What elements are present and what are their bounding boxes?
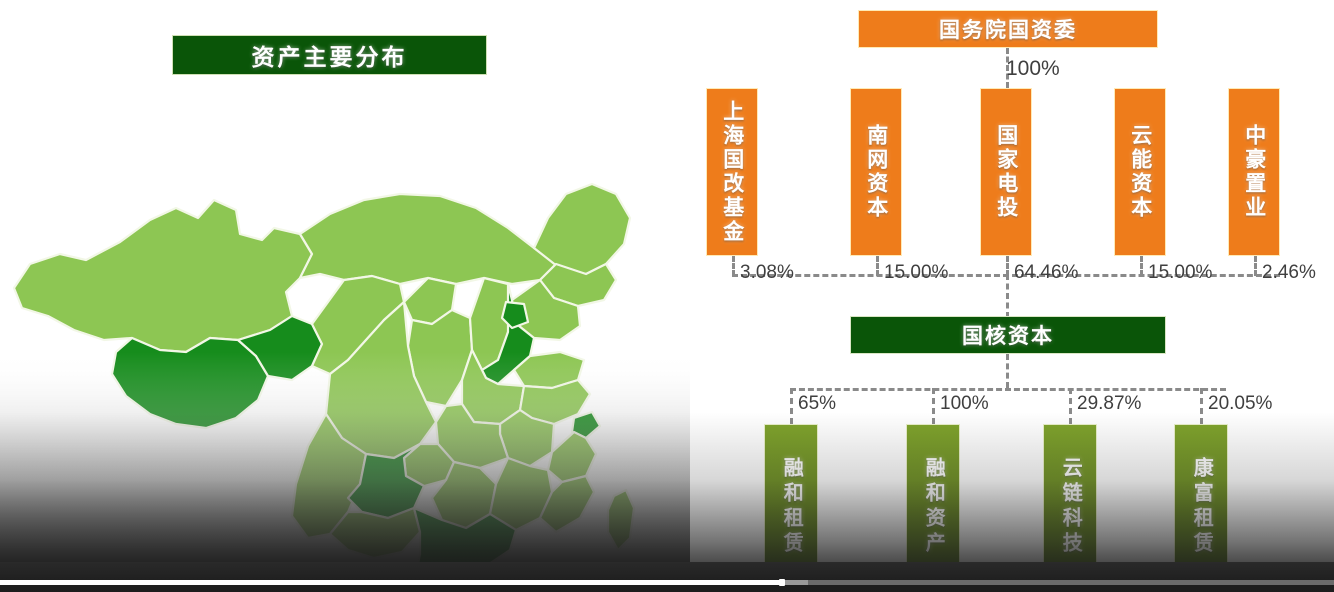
connector-tier2-to-mid [1006,274,1009,318]
org-node-state-power-investment[interactable]: 国家电投 [980,88,1032,256]
connector-tier2-4 [1254,256,1257,276]
section-title-banner: 资产主要分布 [172,35,487,75]
video-progress-bar[interactable] [0,580,1334,585]
org-node-label: 融和租赁 [781,457,801,557]
org-node-guohe-capital[interactable]: 国核资本 [850,316,1166,354]
video-control-bar[interactable] [0,562,1334,592]
connector-tier4-bus [790,388,1226,391]
connector-tier4-3 [1200,388,1203,424]
org-node-mid-label: 国核资本 [962,320,1054,350]
map-bottom-fade [0,88,690,568]
org-node-yunneng-capital[interactable]: 云能资本 [1114,88,1166,256]
org-pct-tier2-1: 15.00% [884,262,948,284]
org-node-root[interactable]: 国务院国资委 [858,10,1158,48]
org-pct-tier4-2: 29.87% [1077,393,1141,415]
org-node-nanwang-capital[interactable]: 南网资本 [850,88,902,256]
connector-mid-down [1006,354,1009,388]
connector-tier4-1 [932,388,935,424]
video-progress-played [0,580,783,585]
org-node-label: 上海国改基金 [721,100,742,244]
china-asset-distribution-map [0,88,690,568]
connector-tier2-0 [732,256,735,276]
org-node-label: 云链科技 [1060,457,1080,557]
org-node-zhonghao-property[interactable]: 中豪置业 [1228,88,1280,256]
org-node-label: 中豪置业 [1243,124,1264,220]
ownership-structure-chart: 国务院国资委 100% 上海国改基金 3.08% 南网资本 15.00% 国家电… [690,0,1334,592]
org-node-label: 国家电投 [995,124,1016,220]
org-pct-tier4-0: 65% [798,393,836,415]
org-node-root-label: 国务院国资委 [939,14,1077,44]
org-pct-tier4-3: 20.05% [1208,393,1272,415]
org-pct-root: 100% [1006,57,1060,81]
org-pct-tier2-0: 3.08% [740,262,794,284]
org-node-label: 南网资本 [865,124,886,220]
org-node-label: 云能资本 [1129,124,1150,220]
connector-tier2-2 [1006,256,1009,276]
org-node-shanghai-guogai-fund[interactable]: 上海国改基金 [706,88,758,256]
org-node-label: 康富租赁 [1191,457,1211,557]
slide-canvas: 资产主要分布 [0,0,1334,592]
connector-tier4-2 [1069,388,1072,424]
org-pct-tier4-1: 100% [940,393,989,415]
connector-tier2-3 [1140,256,1143,276]
org-node-label: 融和资产 [923,457,943,557]
connector-tier2-1 [876,256,879,276]
org-pct-tier2-3: 15.00% [1148,262,1212,284]
china-map-svg [0,88,690,568]
connector-tier4-0 [790,388,793,424]
org-pct-tier2-2: 64.46% [1014,262,1078,284]
org-pct-tier2-4: 2.46% [1262,262,1316,284]
section-title-text: 资产主要分布 [252,38,408,72]
video-progress-handle[interactable] [779,579,785,586]
